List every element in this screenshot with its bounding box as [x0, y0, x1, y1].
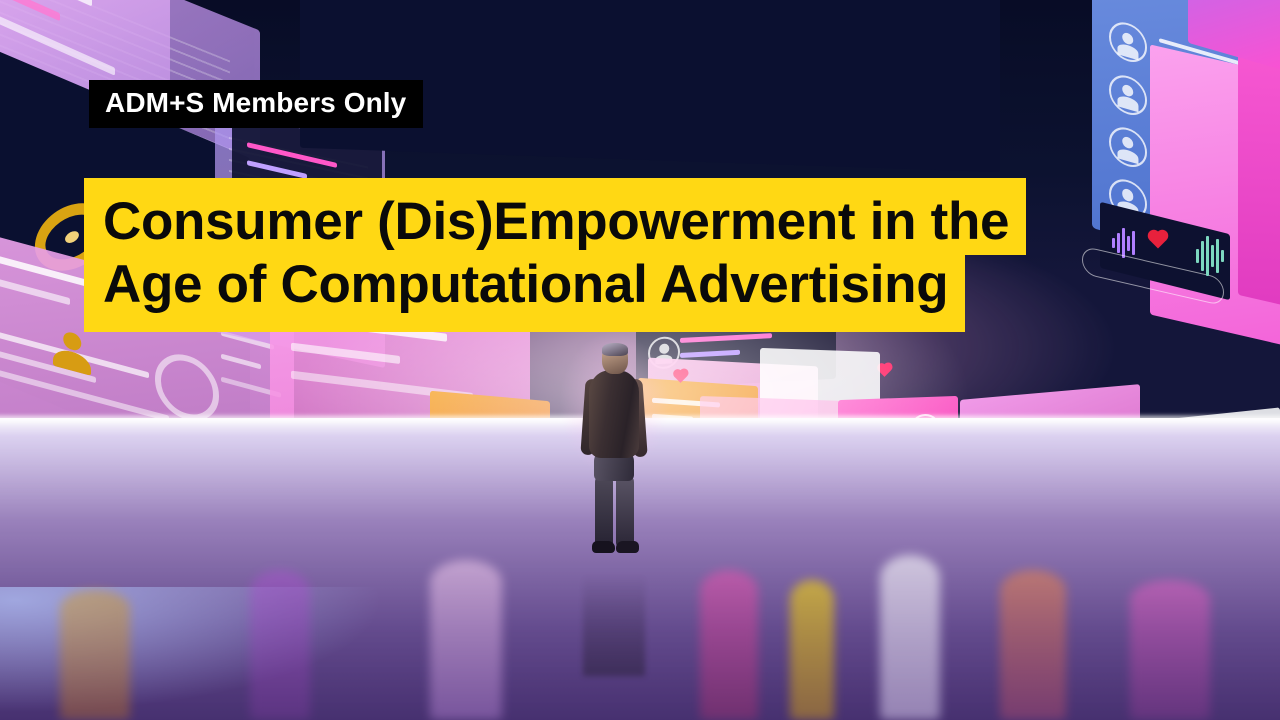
panel-block	[680, 333, 772, 343]
floor-reflection	[700, 570, 758, 720]
promo-banner: ADM+S Members Only Consumer (Dis)Empower…	[0, 0, 1280, 720]
panel-block	[0, 0, 60, 21]
heart-icon	[878, 364, 891, 377]
person-left-shoe	[592, 541, 615, 553]
panel-right-magenta	[1238, 45, 1280, 313]
user-icon-head	[63, 330, 80, 352]
floor-reflection	[250, 570, 310, 720]
floor-reflection	[1000, 570, 1066, 720]
floor-reflection	[880, 555, 940, 720]
person-right-shoe	[616, 541, 639, 553]
person-left-leg	[595, 475, 613, 547]
avatar-icon	[1109, 123, 1147, 172]
waveform-icon	[1196, 236, 1224, 276]
page-title-line-1: Consumer (Dis)Empowerment in the	[84, 178, 1026, 255]
panel-block	[291, 343, 400, 364]
floor-reflection	[1130, 580, 1210, 720]
title-block: Consumer (Dis)Empowerment in the Age of …	[84, 178, 1094, 332]
panel-block	[680, 349, 740, 357]
floor-reflection	[790, 580, 834, 720]
avatar-icon	[1109, 18, 1147, 67]
person-hair	[602, 343, 628, 356]
person-reflection	[583, 556, 645, 676]
person-torso	[589, 370, 639, 458]
panel-block	[0, 278, 70, 304]
floor-reflection	[60, 590, 130, 720]
person-right-leg	[616, 475, 634, 547]
avatar-icon	[1109, 70, 1147, 119]
floor-reflection	[430, 560, 502, 720]
person-silhouette	[583, 343, 645, 558]
members-only-badge: ADM+S Members Only	[89, 80, 423, 128]
panel-block	[247, 160, 307, 179]
page-title-line-2: Age of Computational Advertising	[84, 255, 965, 331]
panel-block	[221, 354, 261, 370]
